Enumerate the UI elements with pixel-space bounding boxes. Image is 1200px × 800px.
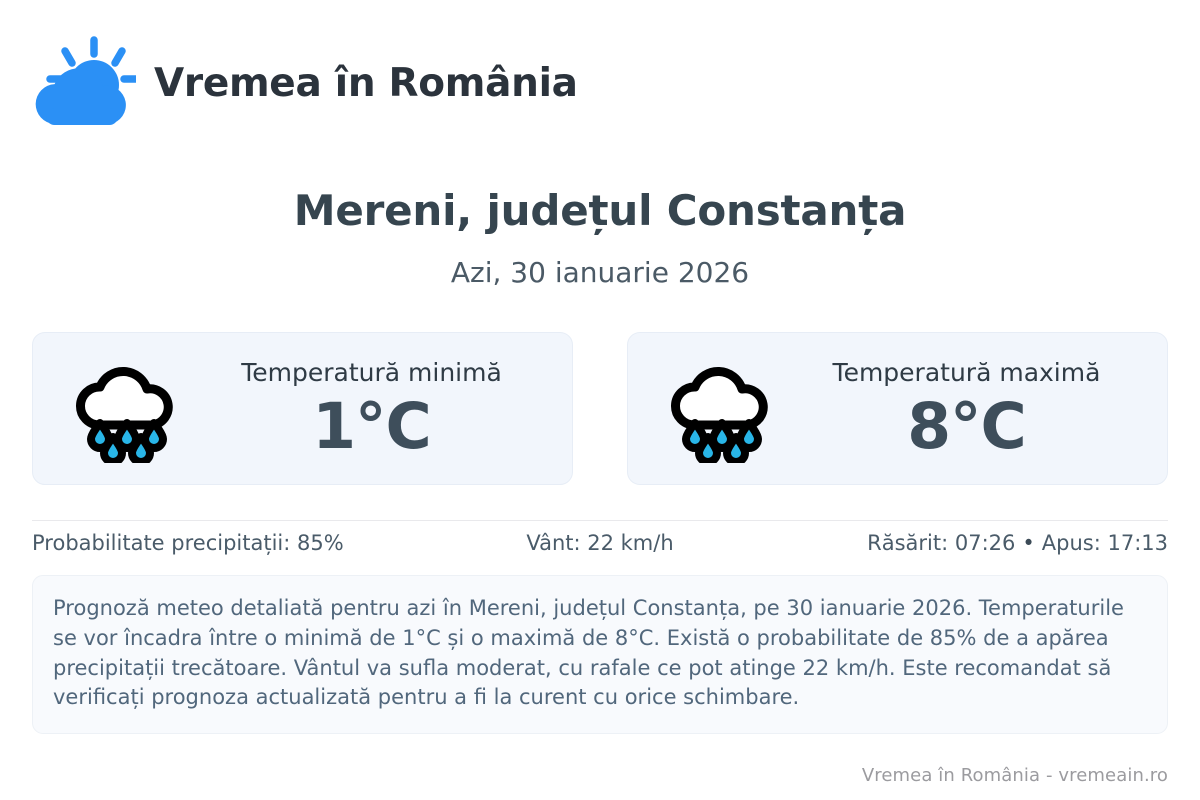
stat-precipitation: Probabilitate precipitații: 85%	[32, 531, 411, 555]
sun-behind-cloud-icon	[32, 36, 136, 132]
rain-cloud-icon	[664, 353, 784, 463]
sun-times-separator: •	[1015, 531, 1041, 555]
stat-sunset: Apus: 17:13	[1042, 531, 1168, 555]
brand-name: Vremea în România	[154, 63, 578, 105]
card-max-value: 8°C	[907, 395, 1026, 458]
card-min-value: 1°C	[312, 395, 431, 458]
brand-logo[interactable]: Vremea în România	[32, 0, 1168, 122]
card-min-label: Temperatură minimă	[241, 359, 502, 387]
stat-wind: Vânt: 22 km/h	[411, 531, 790, 555]
weather-page: Vremea în România Mereni, județul Consta…	[0, 0, 1200, 800]
card-min-body: Temperatură minimă 1°C	[189, 359, 572, 458]
card-max-label: Temperatură maximă	[833, 359, 1101, 387]
stat-sunrise: Răsărit: 07:26	[867, 531, 1015, 555]
card-max-temperature[interactable]: Temperatură maximă 8°C	[627, 332, 1168, 485]
stats-row: Probabilitate precipitații: 85% Vânt: 22…	[32, 521, 1168, 565]
page-subtitle: Azi, 30 ianuarie 2026	[32, 258, 1168, 289]
temperature-cards: Temperatură minimă 1°C Temperatură maxim…	[32, 332, 1168, 485]
rain-cloud-icon	[69, 353, 189, 463]
forecast-description: Prognoză meteo detaliată pentru azi în M…	[32, 575, 1168, 734]
page-title: Mereni, județul Constanța	[32, 188, 1168, 234]
stat-sun-times: Răsărit: 07:26•Apus: 17:13	[789, 531, 1168, 555]
card-min-temperature[interactable]: Temperatură minimă 1°C	[32, 332, 573, 485]
footer-credit: Vremea în România - vremeain.ro	[862, 765, 1168, 786]
card-max-body: Temperatură maximă 8°C	[784, 359, 1167, 458]
